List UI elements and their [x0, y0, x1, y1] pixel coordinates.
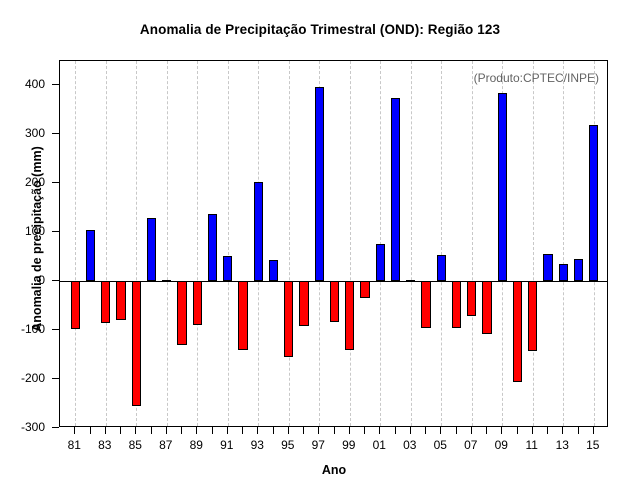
- bar-07: [467, 281, 476, 316]
- bar-93: [254, 182, 263, 281]
- x-tick-mark: [242, 427, 243, 434]
- x-tick-label: 11: [519, 439, 545, 451]
- precipitation-anomaly-chart: Anomalia de Precipitação Trimestral (OND…: [0, 0, 640, 500]
- gridline: [563, 61, 564, 426]
- x-tick-mark: [303, 427, 304, 434]
- y-tick-mark: [52, 231, 59, 232]
- x-tick-label: 99: [336, 439, 362, 451]
- bar-08: [482, 281, 491, 334]
- x-tick-mark: [578, 427, 579, 434]
- gridline: [106, 61, 107, 426]
- x-tick-mark: [593, 427, 594, 434]
- gridline: [289, 61, 290, 426]
- x-tick-label: 91: [214, 439, 240, 451]
- x-tick-mark: [532, 427, 533, 434]
- gridline: [533, 61, 534, 426]
- x-tick-mark: [471, 427, 472, 434]
- x-tick-mark: [166, 427, 167, 434]
- gridline: [441, 61, 442, 426]
- x-tick-mark: [151, 427, 152, 434]
- bar-11: [528, 281, 537, 350]
- gridline: [228, 61, 229, 426]
- x-tick-mark: [395, 427, 396, 434]
- y-tick-label: 300: [0, 127, 45, 139]
- bar-85: [132, 281, 141, 406]
- bar-04: [421, 281, 430, 327]
- x-tick-mark: [562, 427, 563, 434]
- bar-00: [360, 281, 369, 298]
- y-tick-label: 200: [0, 176, 45, 188]
- x-tick-mark: [90, 427, 91, 434]
- bar-91: [223, 256, 232, 281]
- bar-13: [559, 264, 568, 281]
- bar-12: [543, 254, 552, 281]
- x-tick-mark: [74, 427, 75, 434]
- x-tick-mark: [318, 427, 319, 434]
- x-tick-label: 87: [153, 439, 179, 451]
- x-tick-mark: [334, 427, 335, 434]
- bar-82: [86, 230, 95, 281]
- x-axis-title: Ano: [59, 463, 609, 477]
- bar-15: [589, 125, 598, 282]
- x-tick-mark: [120, 427, 121, 434]
- zero-baseline: [60, 281, 607, 282]
- y-tick-label: 100: [0, 225, 45, 237]
- x-tick-label: 81: [61, 439, 87, 451]
- y-tick-label: 400: [0, 78, 45, 90]
- x-tick-mark: [501, 427, 502, 434]
- x-tick-mark: [273, 427, 274, 434]
- x-tick-label: 83: [92, 439, 118, 451]
- bar-09: [498, 93, 507, 281]
- x-tick-mark: [196, 427, 197, 434]
- bar-96: [299, 281, 308, 326]
- x-tick-mark: [364, 427, 365, 434]
- y-tick-label: 0: [0, 274, 45, 286]
- y-tick-mark: [52, 280, 59, 281]
- chart-title: Anomalia de Precipitação Trimestral (OND…: [0, 22, 640, 37]
- x-tick-mark: [517, 427, 518, 434]
- gridline: [411, 61, 412, 426]
- x-tick-mark: [227, 427, 228, 434]
- x-tick-mark: [212, 427, 213, 434]
- x-tick-mark: [379, 427, 380, 434]
- y-tick-mark: [52, 84, 59, 85]
- bar-99: [345, 281, 354, 350]
- x-tick-mark: [105, 427, 106, 434]
- gridline: [350, 61, 351, 426]
- plot-area: (Produto:CPTEC/INPE): [59, 60, 608, 427]
- bar-89: [193, 281, 202, 325]
- y-tick-mark: [52, 133, 59, 134]
- x-tick-label: 15: [580, 439, 606, 451]
- x-tick-label: 01: [366, 439, 392, 451]
- x-tick-label: 13: [549, 439, 575, 451]
- bar-10: [513, 281, 522, 382]
- bar-97: [315, 87, 324, 281]
- x-tick-mark: [425, 427, 426, 434]
- x-tick-mark: [181, 427, 182, 434]
- y-tick-label: -100: [0, 323, 45, 335]
- x-tick-mark: [257, 427, 258, 434]
- bar-14: [574, 259, 583, 281]
- x-tick-label: 05: [427, 439, 453, 451]
- bar-83: [101, 281, 110, 323]
- y-tick-mark: [52, 378, 59, 379]
- gridline: [472, 61, 473, 426]
- y-tick-mark: [52, 182, 59, 183]
- x-tick-mark: [135, 427, 136, 434]
- y-tick-mark: [52, 427, 59, 428]
- gridline: [75, 61, 76, 426]
- source-annotation: (Produto:CPTEC/INPE): [474, 71, 599, 85]
- y-tick-label: -300: [0, 421, 45, 433]
- bar-84: [116, 281, 125, 320]
- bar-95: [284, 281, 293, 357]
- x-tick-label: 93: [244, 439, 270, 451]
- bar-02: [391, 98, 400, 281]
- gridline: [197, 61, 198, 426]
- x-tick-mark: [349, 427, 350, 434]
- x-tick-label: 97: [305, 439, 331, 451]
- bar-90: [208, 214, 217, 282]
- bar-01: [376, 244, 385, 281]
- y-tick-mark: [52, 329, 59, 330]
- x-tick-label: 85: [122, 439, 148, 451]
- x-tick-label: 89: [183, 439, 209, 451]
- x-tick-mark: [547, 427, 548, 434]
- x-tick-mark: [410, 427, 411, 434]
- bar-88: [177, 281, 186, 345]
- bar-81: [71, 281, 80, 329]
- x-tick-label: 09: [488, 439, 514, 451]
- x-tick-mark: [288, 427, 289, 434]
- x-tick-mark: [456, 427, 457, 434]
- bar-86: [147, 218, 156, 282]
- gridline: [167, 61, 168, 426]
- x-tick-label: 07: [458, 439, 484, 451]
- x-tick-mark: [486, 427, 487, 434]
- bar-94: [269, 260, 278, 282]
- bar-92: [238, 281, 247, 350]
- y-tick-label: -200: [0, 372, 45, 384]
- bar-98: [330, 281, 339, 322]
- x-tick-mark: [440, 427, 441, 434]
- bar-05: [437, 255, 446, 281]
- bar-06: [452, 281, 461, 327]
- x-tick-label: 03: [397, 439, 423, 451]
- x-tick-label: 95: [275, 439, 301, 451]
